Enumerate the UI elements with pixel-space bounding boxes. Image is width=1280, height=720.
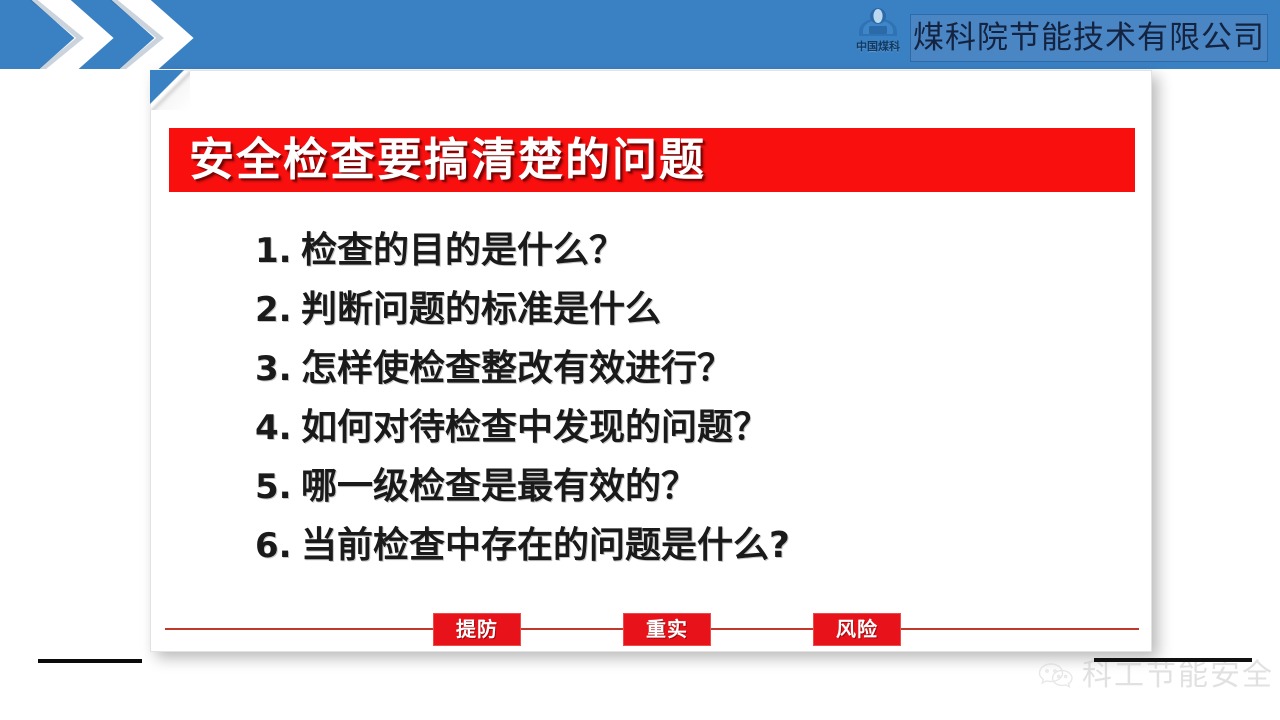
china-coal-technology-logo-icon xyxy=(855,4,901,40)
list-item-label: 怎样使检查整改有效进行？ xyxy=(301,349,733,389)
list-item: 5. 哪一级检查是最有效的？ xyxy=(255,467,1115,526)
title-banner: 安全检查要搞清楚的问题 xyxy=(169,128,1135,192)
bottom-left-rule xyxy=(38,659,142,663)
footer-tag-label: 重实 xyxy=(646,619,688,640)
company-name-label: 煤科院节能技术有限公司 xyxy=(913,21,1265,55)
footer-tag: 风险 xyxy=(813,613,901,646)
logo-label: 中国煤科 xyxy=(856,41,900,53)
list-item: 4. 如何对待检查中发现的问题？ xyxy=(255,408,1115,467)
footer-tag-label: 提防 xyxy=(456,619,498,640)
list-item-number: 4. xyxy=(255,408,301,448)
list-item: 3. 怎样使检查整改有效进行？ xyxy=(255,349,1115,408)
list-item-label: 检查的目的是什么？ xyxy=(301,231,625,271)
watermark: 科工节能安全 xyxy=(1038,660,1274,692)
watermark-strike-line xyxy=(1094,658,1252,662)
content-card: 安全检查要搞清楚的问题 1. 检查的目的是什么？ 2. 判断问题的标准是什么 3… xyxy=(150,70,1152,652)
list-item: 2. 判断问题的标准是什么 xyxy=(255,290,1115,349)
page-title: 安全检查要搞清楚的问题 xyxy=(189,137,706,183)
list-item-number: 3. xyxy=(255,349,301,389)
logo-block: 中国煤科 xyxy=(846,4,910,64)
slide-canvas: 中国煤科 煤科院节能技术有限公司 安全检查要搞清楚的问题 1. 检查的目的是什么… xyxy=(0,0,1280,720)
footer-tag: 重实 xyxy=(623,613,711,646)
wechat-icon xyxy=(1038,661,1074,691)
list-item: 6. 当前检查中存在的问题是什么? xyxy=(255,526,1115,585)
footer-tag-group: 提防 重实 风险 xyxy=(165,613,1139,647)
list-item-label: 哪一级检查是最有效的？ xyxy=(301,467,697,507)
header-band: 中国煤科 煤科院节能技术有限公司 xyxy=(0,0,1280,69)
list-item-label: 如何对待检查中发现的问题？ xyxy=(301,408,769,448)
card-fold-cut xyxy=(150,70,184,104)
watermark-label: 科工节能安全 xyxy=(1082,660,1274,692)
list-item: 1. 检查的目的是什么？ xyxy=(255,231,1115,290)
list-item-number: 5. xyxy=(255,467,301,507)
company-name-box: 煤科院节能技术有限公司 xyxy=(910,14,1268,62)
double-chevron-right-icon xyxy=(0,0,214,69)
list-item-number: 1. xyxy=(255,231,301,271)
list-item-number: 2. xyxy=(255,290,301,330)
list-item-label: 判断问题的标准是什么 xyxy=(301,290,661,330)
footer-tag-label: 风险 xyxy=(836,619,878,640)
list-item-number: 6. xyxy=(255,526,301,566)
footer-tag: 提防 xyxy=(433,613,521,646)
question-list: 1. 检查的目的是什么？ 2. 判断问题的标准是什么 3. 怎样使检查整改有效进… xyxy=(255,231,1115,585)
list-item-label: 当前检查中存在的问题是什么? xyxy=(301,526,790,566)
